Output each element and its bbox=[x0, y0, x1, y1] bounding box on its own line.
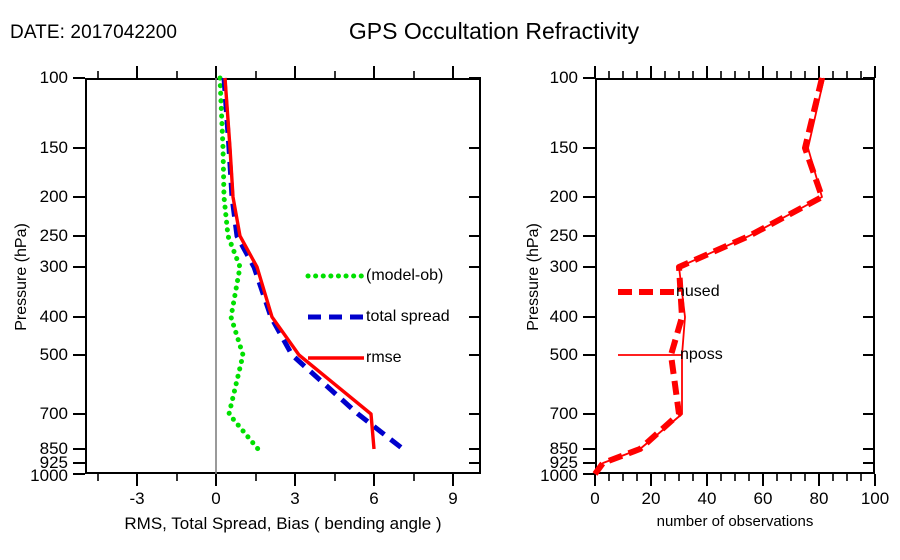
right-ytick-300: 300 bbox=[510, 257, 578, 277]
left-plot-panel: Pressure (hPa) RMS, Total Spread, Bias (… bbox=[0, 0, 500, 560]
right-xtick-0: 0 bbox=[590, 489, 599, 509]
right-xtick-60: 60 bbox=[754, 489, 773, 509]
left-xtick--3: -3 bbox=[129, 489, 144, 509]
left-ytick-250: 250 bbox=[0, 226, 68, 246]
right-ytick-100: 100 bbox=[510, 68, 578, 88]
curve-rmse bbox=[225, 78, 374, 449]
left-xtick-3: 3 bbox=[290, 489, 299, 509]
left-ytick-200: 200 bbox=[0, 187, 68, 207]
right-x-ticks bbox=[595, 66, 875, 486]
right-xtick-40: 40 bbox=[698, 489, 717, 509]
curve-nused bbox=[595, 78, 822, 474]
right-plot-panel: Pressure (hPa) number of observations bbox=[500, 0, 900, 560]
right-xtick-100: 100 bbox=[861, 489, 889, 509]
right-xtick-20: 20 bbox=[642, 489, 661, 509]
left-ytick-1000: 1000 bbox=[0, 466, 68, 486]
left-xtick-9: 9 bbox=[448, 489, 457, 509]
right-ytick-200: 200 bbox=[510, 187, 578, 207]
right-ytick-500: 500 bbox=[510, 345, 578, 365]
right-ytick-1000: 1000 bbox=[510, 466, 578, 486]
left-xtick-0: 0 bbox=[211, 489, 220, 509]
left-ytick-700: 700 bbox=[0, 404, 68, 424]
legend-label-total-spread: total spread bbox=[366, 308, 450, 326]
right-ytick-150: 150 bbox=[510, 138, 578, 158]
right-y-major-ticks bbox=[583, 78, 875, 474]
left-ytick-100: 100 bbox=[0, 68, 68, 88]
right-ytick-700: 700 bbox=[510, 404, 578, 424]
right-ytick-250: 250 bbox=[510, 226, 578, 246]
curve-total-spread bbox=[224, 78, 403, 449]
right-ytick-400: 400 bbox=[510, 307, 578, 327]
right-xtick-80: 80 bbox=[810, 489, 829, 509]
curve-label-nposs: nposs bbox=[680, 346, 723, 364]
curve-label-nused: nused bbox=[676, 283, 720, 301]
left-xtick-6: 6 bbox=[369, 489, 378, 509]
legend-label-rmse: rmse bbox=[366, 349, 402, 367]
left-ytick-150: 150 bbox=[0, 138, 68, 158]
left-ytick-500: 500 bbox=[0, 345, 68, 365]
left-ytick-300: 300 bbox=[0, 257, 68, 277]
left-ytick-400: 400 bbox=[0, 307, 68, 327]
legend-label-model-minus-ob: (model-ob) bbox=[366, 267, 443, 285]
curve-nposs bbox=[595, 78, 824, 474]
